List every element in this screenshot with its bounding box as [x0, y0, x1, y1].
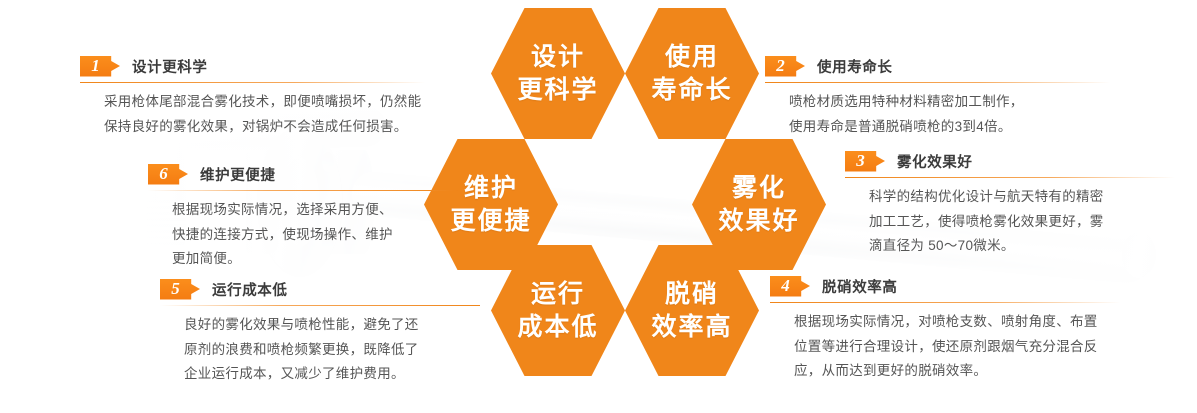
feature-4-body: 根据现场实际情况，对喷枪支数、喷射角度、布置 位置等进行合理设计，使还原剂跟烟气…: [770, 310, 1120, 384]
feature-5-number-badge: 5: [160, 279, 200, 300]
feature-4-divider: [770, 302, 1120, 303]
feature-3-title: 雾化效果好: [897, 151, 973, 172]
feature-3-divider: [845, 177, 1175, 178]
feature-2-divider: [765, 82, 1110, 83]
infographic-stage: 设计 更科学 使用 寿命长 维护 更便捷 雾化 效果好 运行 成本低 脱硝 效率…: [0, 0, 1197, 413]
hexagon-maintenance-line2: 更便捷: [450, 205, 531, 238]
feature-3: 3 雾化效果好 科学的结构优化设计与航天特有的精密 加工工艺，使得喷枪雾化效果更…: [845, 150, 1175, 259]
feature-2-header: 2 使用寿命长: [765, 55, 1110, 77]
feature-1-title: 设计更科学: [132, 56, 208, 77]
hexagon-design-line1: 设计: [531, 41, 585, 74]
feature-2-title: 使用寿命长: [817, 56, 893, 77]
feature-5-divider: [160, 305, 480, 306]
feature-5-body: 良好的雾化效果与喷枪性能，避免了还 原剂的浪费和喷枪频繁更换，既降低了 企业运行…: [160, 313, 480, 387]
feature-4-title: 脱硝效率高: [822, 276, 898, 297]
hexagon-cost-line1: 运行: [531, 278, 585, 311]
feature-2: 2 使用寿命长 喷枪材质选用特种材料精密加工制作， 使用寿命是普通脱硝喷枪的3到…: [765, 55, 1110, 139]
feature-6-divider: [148, 190, 458, 191]
feature-2-number-badge: 2: [765, 56, 805, 77]
hexagon-lifespan-line2: 寿命长: [651, 74, 732, 107]
hexagon-lifespan-line1: 使用: [665, 41, 719, 74]
hexagon-atomization-line2: 效果好: [718, 205, 799, 238]
feature-6: 6 维护更便捷 根据现场实际情况，选择采用方便、 快捷的连接方式，使现场操作、维…: [148, 163, 458, 272]
feature-3-number-badge: 3: [845, 151, 885, 172]
feature-4: 4 脱硝效率高 根据现场实际情况，对喷枪支数、喷射角度、布置 位置等进行合理设计…: [770, 275, 1120, 384]
feature-6-body: 根据现场实际情况，选择采用方便、 快捷的连接方式，使现场操作、维护 更加简便。: [148, 198, 458, 272]
feature-2-body: 喷枪材质选用特种材料精密加工制作， 使用寿命是普通脱硝喷枪的3到4倍。: [765, 90, 1110, 139]
feature-4-number-badge: 4: [770, 276, 810, 297]
feature-1-number-badge: 1: [80, 56, 120, 77]
hexagon-maintenance-line1: 维护: [464, 172, 518, 205]
feature-3-body: 科学的结构优化设计与航天特有的精密 加工工艺，使得喷枪雾化效果更好，雾 滴直径为…: [845, 185, 1175, 259]
feature-5-title: 运行成本低: [212, 279, 288, 300]
feature-1-header: 1 设计更科学: [80, 55, 425, 77]
hexagon-denitration-line2: 效率高: [651, 311, 732, 344]
feature-1-body: 采用枪体尾部混合雾化技术，即便喷嘴损坏，仍然能 保持良好的雾化效果，对锅炉不会造…: [80, 90, 425, 139]
feature-6-header: 6 维护更便捷: [148, 163, 458, 185]
feature-5-header: 5 运行成本低: [160, 278, 480, 300]
feature-1-divider: [80, 82, 425, 83]
hexagon-cost-line2: 成本低: [517, 311, 598, 344]
feature-6-title: 维护更便捷: [200, 164, 276, 185]
feature-6-number-badge: 6: [148, 164, 188, 185]
feature-1: 1 设计更科学 采用枪体尾部混合雾化技术，即便喷嘴损坏，仍然能 保持良好的雾化效…: [80, 55, 425, 139]
feature-4-header: 4 脱硝效率高: [770, 275, 1120, 297]
feature-3-header: 3 雾化效果好: [845, 150, 1175, 172]
hexagon-denitration-line1: 脱硝: [665, 278, 719, 311]
hexagon-design-line2: 更科学: [517, 74, 598, 107]
feature-5: 5 运行成本低 良好的雾化效果与喷枪性能，避免了还 原剂的浪费和喷枪频繁更换，既…: [160, 278, 480, 387]
hexagon-atomization-line1: 雾化: [732, 172, 786, 205]
